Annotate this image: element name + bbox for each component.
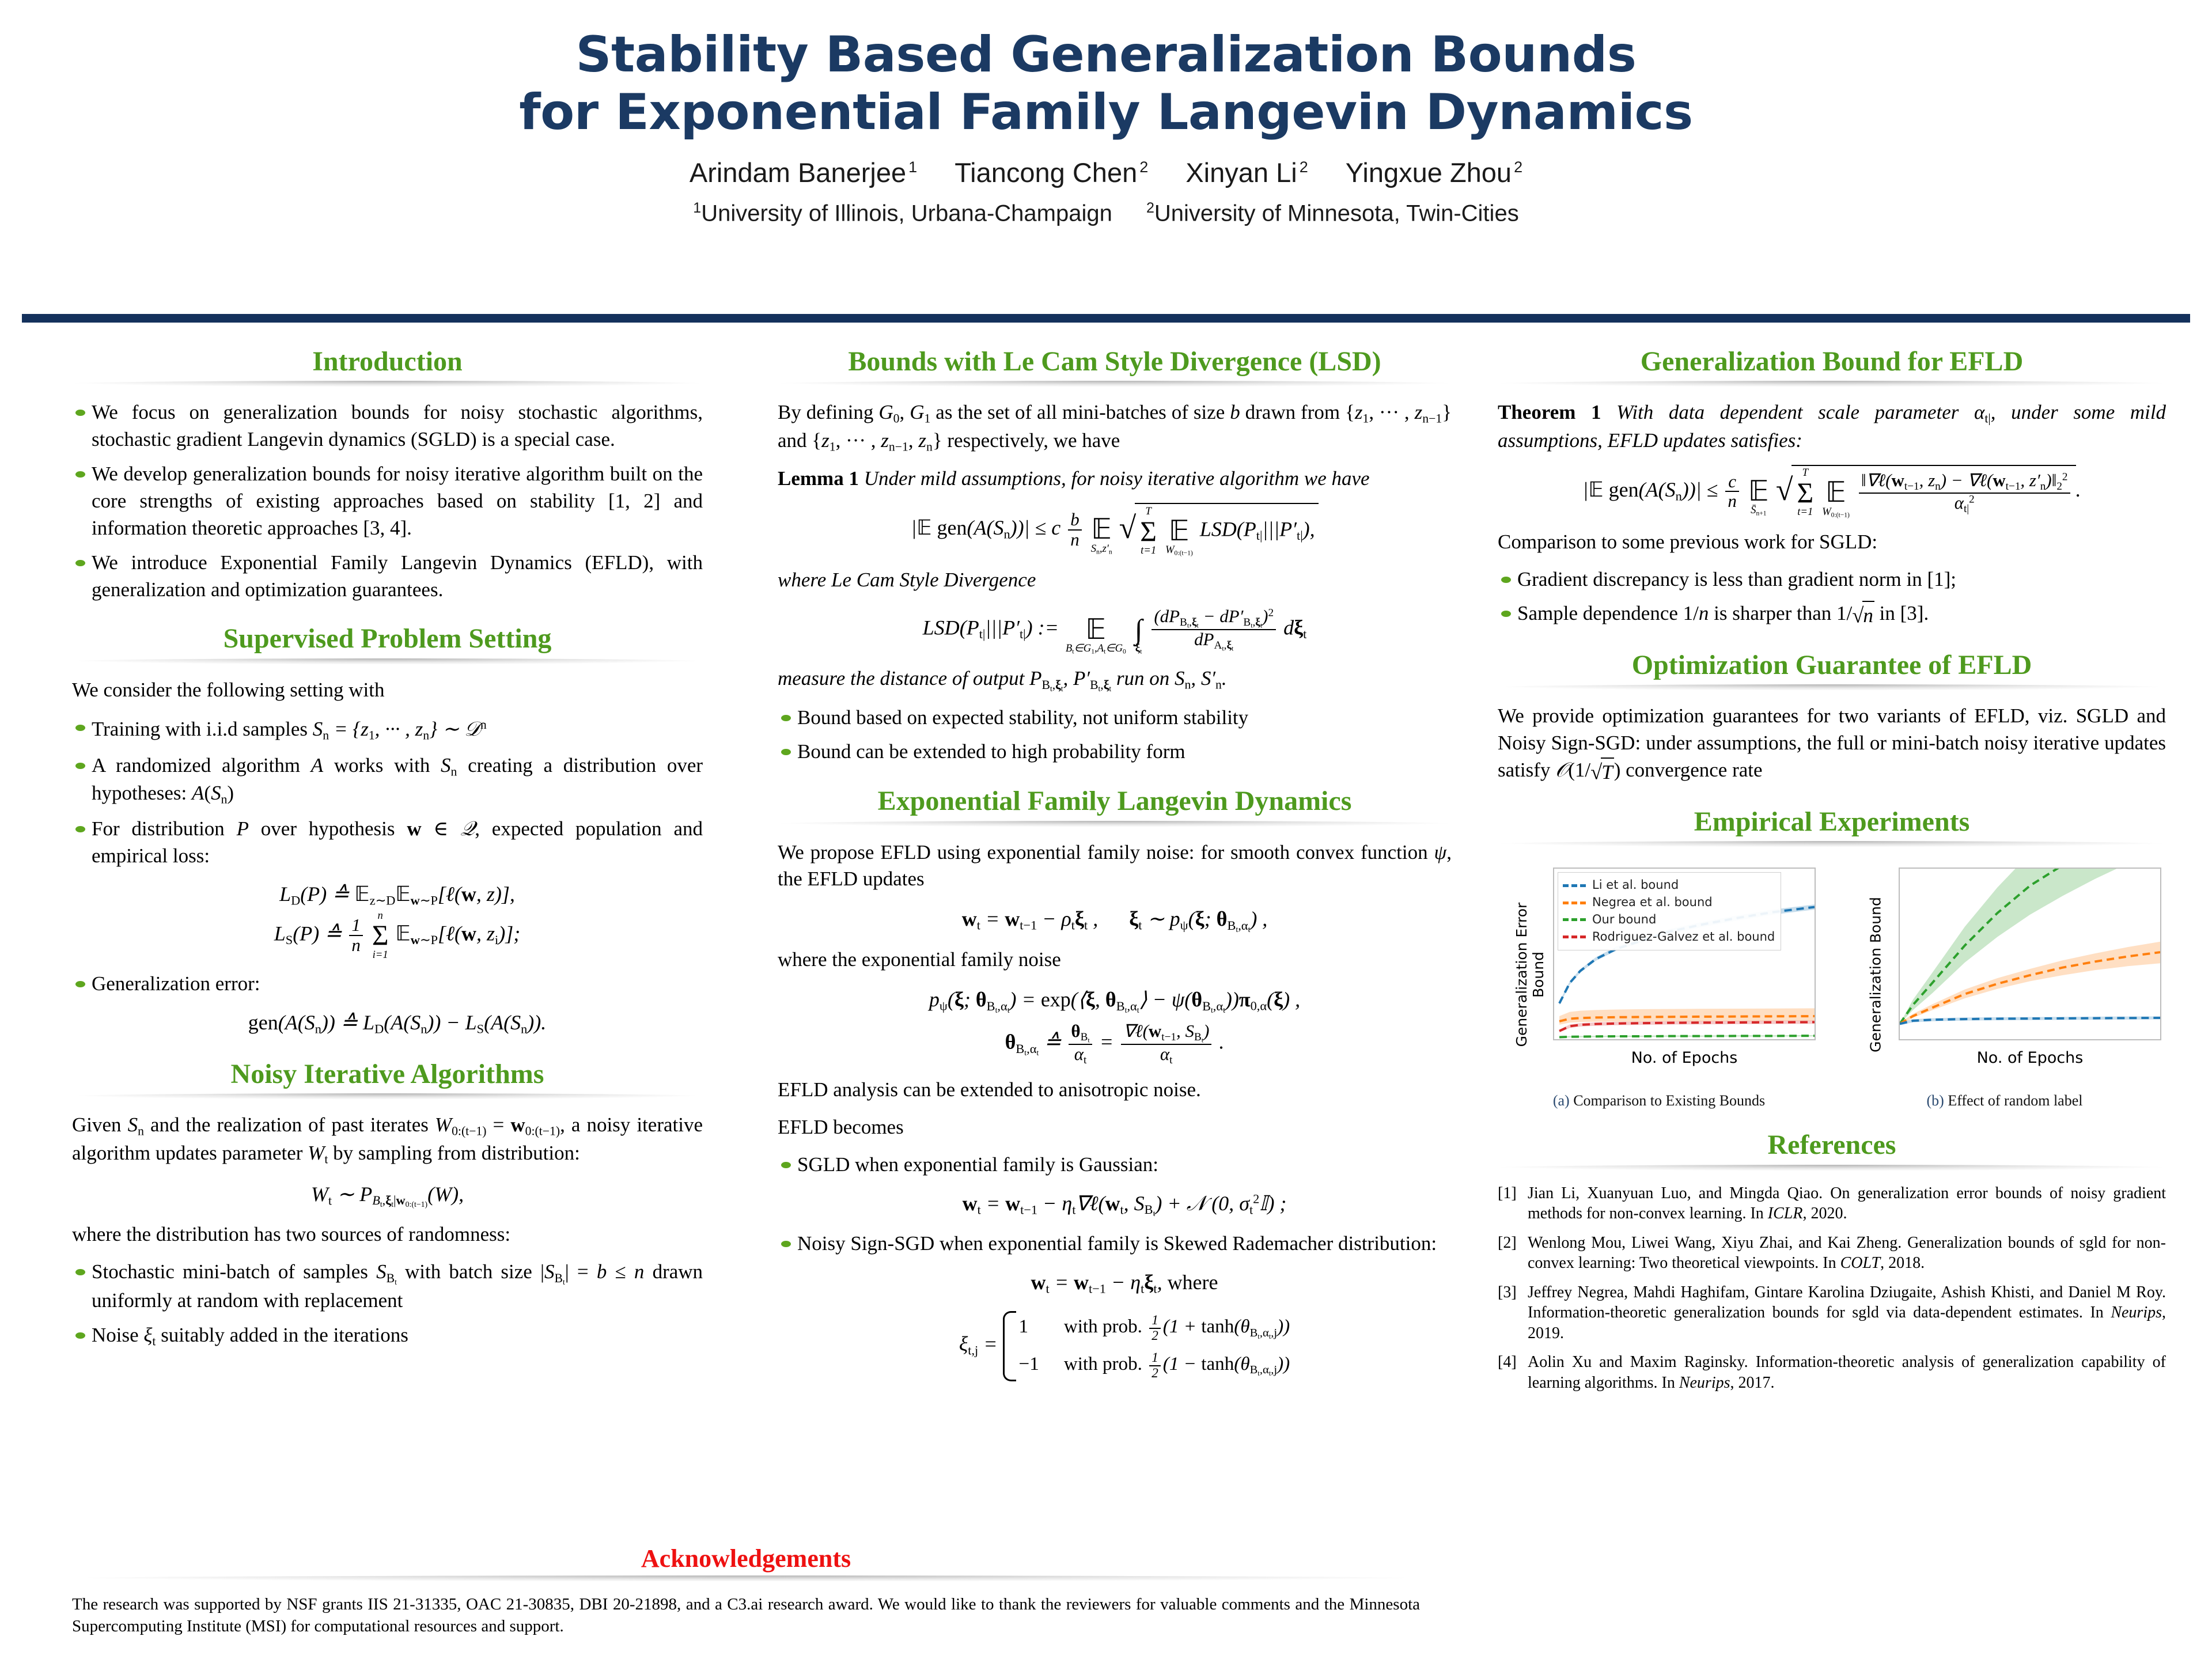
title-line-1: Stability Based Generalization Bounds	[0, 26, 2212, 84]
section-introduction: Introduction We focus on generalization …	[72, 346, 703, 603]
lsd-where: where Le Cam Style Divergence	[778, 567, 1452, 594]
supervised-intro: We consider the following setting with	[72, 677, 703, 704]
formula-theorem1-bound: |𝔼 gen(A(Sn))| ≤ cn 𝔼S̄n+1 √ TΣt=1 𝔼W0:(…	[1498, 465, 2166, 518]
page-title: Stability Based Generalization Bounds fo…	[0, 26, 2212, 142]
list-item: Training with i.i.d samples Sn = {z1, ··…	[72, 714, 703, 745]
author-4: Yingxue Zhou2	[1346, 157, 1522, 188]
section-noisy-iterative-algorithms: Noisy Iterative Algorithms Given Sn and …	[72, 1058, 703, 1350]
legend-label: Our bound	[1592, 911, 1656, 929]
section-divider	[1498, 1165, 2166, 1171]
reference-text: Jeffrey Negrea, Mahdi Haghifam, Gintare …	[1528, 1283, 2166, 1322]
section-title-lsd: Bounds with Le Cam Style Divergence (LSD…	[778, 346, 1452, 377]
section-title-efld: Exponential Family Langevin Dynamics	[778, 785, 1452, 817]
lemma-1: Lemma 1 Under mild assumptions, for nois…	[778, 465, 1452, 493]
legend-swatch	[1563, 884, 1586, 887]
supervised-bullets: Training with i.i.d samples Sn = {z1, ··…	[72, 714, 703, 1039]
section-title-genbound: Generalization Bound for EFLD	[1498, 346, 2166, 377]
reference-text: Aolin Xu and Maxim Raginsky. Information…	[1528, 1353, 2166, 1392]
genbound-comparison: Comparison to some previous work for SGL…	[1498, 529, 2166, 556]
theorem-1: Theorem 1 With data dependent scale para…	[1498, 399, 2166, 454]
chart-b-ylabel: Generalization Bound	[1868, 882, 1884, 1067]
figure-b: Generalization Bound 0.00.20.40.60.81.00…	[1843, 859, 2166, 1109]
list-item: Bound based on expected stability, not u…	[778, 704, 1452, 732]
formula-losses: LD(P) ≙ 𝔼z∼D𝔼w∼P[ℓ(w, z)], LS(P) ≙ 1n nΣ…	[92, 878, 703, 960]
reference-item: [3]Jeffrey Negrea, Mahdi Haghifam, Ginta…	[1498, 1282, 2166, 1344]
genbound-bullets: Gradient discrepancy is less than gradie…	[1498, 566, 2166, 630]
efld-paragraph-1: We propose EFLD using exponential family…	[778, 839, 1452, 893]
legend-swatch	[1563, 935, 1586, 938]
references-list: [1]Jian Li, Xuanyuan Luo, and Mingda Qia…	[1498, 1183, 2166, 1393]
section-title-references: References	[1498, 1129, 2166, 1161]
section-supervised-problem-setting: Supervised Problem Setting We consider t…	[72, 623, 703, 1039]
list-item: Sample dependence 1/n is sharper than 1/…	[1498, 600, 2166, 630]
list-item: Bound can be extended to high probabilit…	[778, 738, 1452, 766]
lemma-text: Under mild assumptions, for noisy iterat…	[864, 467, 1370, 490]
reference-venue: COLT	[1840, 1254, 1880, 1272]
reference-number: [2]	[1498, 1233, 1517, 1253]
section-divider	[72, 381, 703, 387]
chart-b-xlabel: No. of Epochs	[1899, 1049, 2161, 1067]
affiliation-list: 1University of Illinois, Urbana-Champaig…	[0, 200, 2212, 226]
section-generalization-bound: Generalization Bound for EFLD Theorem 1 …	[1498, 346, 2166, 630]
section-title-optimization: Optimization Guarantee of EFLD	[1498, 649, 2166, 681]
chart-band	[1900, 869, 2160, 1024]
list-item: For distribution P over hypothesis w ∈ 𝒬…	[72, 816, 703, 961]
list-item: Noise ξt suitably added in the iteration…	[72, 1322, 703, 1350]
poster-columns: Introduction We focus on generalization …	[0, 346, 2212, 1412]
author-2: Tiancong Chen2	[955, 157, 1148, 188]
list-item: We introduce Exponential Family Langevin…	[72, 550, 703, 604]
formula-signsgd-update: wt = wt−1 − ηtξt, where	[797, 1267, 1452, 1298]
legend-swatch	[1563, 902, 1586, 904]
section-title-experiments: Empirical Experiments	[1498, 806, 2166, 838]
author-3: Xinyan Li2	[1185, 157, 1308, 188]
section-acknowledgements: Acknowledgements The research was suppor…	[72, 1544, 1420, 1637]
chart-comparison-existing-bounds: Generalization Error Bound 0.00.20.40.60…	[1498, 859, 1820, 1090]
efld-paragraph-4: EFLD becomes	[778, 1114, 1452, 1141]
reference-number: [4]	[1498, 1352, 1517, 1373]
section-lsd: Bounds with Le Cam Style Divergence (LSD…	[778, 346, 1452, 766]
legend-item: Negrea et al. bound	[1563, 894, 1775, 911]
chart-a-plot-area: 0.00.20.40.60.81.002040Li et al. boundNe…	[1553, 868, 1816, 1040]
reference-item: [2]Wenlong Mou, Liwei Wang, Xiyu Zhai, a…	[1498, 1233, 2166, 1274]
formula-gen-error: gen(A(Sn)) ≙ LD(A(Sn)) − LS(A(Sn)).	[92, 1007, 703, 1039]
section-optimization-guarantee: Optimization Guarantee of EFLD We provid…	[1498, 649, 2166, 786]
reference-year: , 2020.	[1802, 1205, 1847, 1222]
lsd-bullets: Bound based on expected stability, not u…	[778, 704, 1452, 766]
formula-wt-sampling: Wt ∼ PBt,ξt|w0:(t−1)(W),	[72, 1179, 703, 1211]
legend-label: Rodriguez-Galvez et al. bound	[1592, 929, 1775, 946]
cases-block: 1 with prob. 12(1 + tanh(θBt,αt,j)) −1 w…	[1003, 1309, 1290, 1384]
chart-legend: Li et al. boundNegrea et al. boundOur bo…	[1558, 872, 1781, 950]
column-left: Introduction We focus on generalization …	[0, 346, 755, 1369]
reference-year: , 2017.	[1730, 1374, 1775, 1392]
figures-row: Generalization Error Bound 0.00.20.40.60…	[1498, 859, 2166, 1109]
affiliation-2: 2University of Minnesota, Twin-Cities	[1146, 200, 1519, 226]
section-divider	[1498, 841, 2166, 847]
section-title-supervised: Supervised Problem Setting	[72, 623, 703, 654]
noisy-bullets: Stochastic mini-batch of samples SBt wit…	[72, 1259, 703, 1350]
legend-item: Li et al. bound	[1563, 877, 1775, 894]
chart-b-plot-area: 0.00.20.40.60.81.002505007501000	[1899, 868, 2161, 1040]
legend-label: Negrea et al. bound	[1592, 894, 1713, 911]
figure-a: Generalization Error Bound 0.00.20.40.60…	[1498, 859, 1820, 1109]
author-1: Arindam Banerjee1	[690, 157, 917, 188]
reference-item: [4]Aolin Xu and Maxim Raginsky. Informat…	[1498, 1352, 2166, 1393]
legend-label: Li et al. bound	[1592, 877, 1679, 894]
reference-item: [1]Jian Li, Xuanyuan Luo, and Mingda Qia…	[1498, 1183, 2166, 1224]
reference-venue: Neurips	[2111, 1304, 2162, 1321]
chart-b-svg	[1900, 869, 2160, 1039]
list-item: Gradient discrepancy is less than gradie…	[1498, 566, 2166, 593]
section-title-introduction: Introduction	[72, 346, 703, 377]
noisy-paragraph-1: Given Sn and the realization of past ite…	[72, 1112, 703, 1168]
list-item: SGLD when exponential family is Gaussian…	[778, 1152, 1452, 1220]
efld-paragraph-3: EFLD analysis can be extended to anisotr…	[778, 1077, 1452, 1104]
lsd-paragraph-1: By defining G0, G1 as the set of all min…	[778, 399, 1452, 455]
legend-item: Our bound	[1563, 911, 1775, 929]
chart-a-ylabel: Generalization Error Bound	[1513, 882, 1547, 1067]
section-divider	[778, 381, 1452, 387]
list-item: Noisy Sign-SGD when exponential family i…	[778, 1230, 1452, 1384]
section-divider	[72, 1575, 1420, 1581]
formula-xi-cases: ξt,j = 1 with prob. 12(1 + tanh(θBt,αt,j…	[797, 1309, 1452, 1384]
poster-header: Stability Based Generalization Bounds fo…	[0, 0, 2212, 226]
figure-b-caption: (b) Effect of random label	[1843, 1092, 2166, 1109]
section-efld: Exponential Family Langevin Dynamics We …	[778, 785, 1452, 1384]
reference-year: , 2018.	[1880, 1254, 1925, 1272]
introduction-bullets: We focus on generalization bounds for no…	[72, 399, 703, 603]
formula-efld-noise: pψ(ξ; θBt,αt) = exp(⟨ξ, θBt,αt⟩ − ψ(θBt,…	[778, 984, 1452, 1066]
lemma-label: Lemma 1	[778, 467, 859, 490]
efld-bullets: SGLD when exponential family is Gaussian…	[778, 1152, 1452, 1384]
reference-venue: Neurips	[1679, 1374, 1730, 1392]
reference-number: [3]	[1498, 1282, 1517, 1303]
list-item: We develop generalization bounds for noi…	[72, 461, 703, 542]
section-title-noisy: Noisy Iterative Algorithms	[72, 1058, 703, 1090]
section-empirical-experiments: Empirical Experiments Generalization Err…	[1498, 806, 2166, 1109]
column-middle: Bounds with Le Cam Style Divergence (LSD…	[755, 346, 1475, 1403]
formula-sgld-update: wt = wt−1 − ηt∇ℓ(wt, SBt) + 𝒩 (0, σt2𝕀) …	[797, 1188, 1452, 1221]
reference-venue: ICLR	[1768, 1205, 1803, 1222]
section-references: References [1]Jian Li, Xuanyuan Luo, and…	[1498, 1129, 2166, 1393]
author-list: Arindam Banerjee1 Tiancong Chen2 Xinyan …	[0, 157, 2212, 188]
chart-a-xlabel: No. of Epochs	[1553, 1049, 1816, 1067]
header-divider	[22, 314, 2190, 323]
section-divider	[1498, 684, 2166, 690]
section-divider	[778, 821, 1452, 827]
formula-lsd-definition: LSD(Pt||||P′t|) := 𝔼Bt∈G1,At∈G0 ∫ξt (dPB…	[778, 604, 1452, 655]
formula-lemma1-bound: |𝔼 gen(A(Sn))| ≤ c bn 𝔼Sn,z′n √ TΣt=1 𝔼W…	[778, 503, 1452, 556]
list-item: Generalization error: gen(A(Sn)) ≙ LD(A(…	[72, 971, 703, 1039]
section-title-acknowledgements: Acknowledgements	[72, 1544, 1420, 1573]
noisy-paragraph-2: where the distribution has two sources o…	[72, 1221, 703, 1248]
section-divider	[1498, 381, 2166, 387]
efld-paragraph-2: where the exponential family noise	[778, 946, 1452, 974]
lsd-measure: measure the distance of output PBt,ξt, P…	[778, 665, 1452, 694]
section-divider	[72, 658, 703, 664]
legend-item: Rodriguez-Galvez et al. bound	[1563, 929, 1775, 946]
acknowledgements-text: The research was supported by NSF grants…	[72, 1594, 1420, 1637]
column-right: Generalization Bound for EFLD Theorem 1 …	[1475, 346, 2212, 1412]
list-item: We focus on generalization bounds for no…	[72, 399, 703, 453]
formula-sn: Sn = {z1, ··· , zn} ∼ 𝒟n	[313, 718, 487, 740]
list-item: A randomized algorithm A works with Sn c…	[72, 752, 703, 808]
formula-efld-update: wt = wt−1 − ρtξt , ξt ∼ pψ(ξ; θBt,αt) ,	[778, 903, 1452, 936]
theorem-label: Theorem 1	[1498, 401, 1601, 423]
optimization-paragraph: We provide optimization guarantees for t…	[1498, 703, 2166, 786]
section-divider	[72, 1093, 703, 1099]
reference-number: [1]	[1498, 1183, 1517, 1204]
title-line-2: for Exponential Family Langevin Dynamics	[0, 84, 2212, 142]
list-item: Stochastic mini-batch of samples SBt wit…	[72, 1259, 703, 1314]
chart-effect-random-label: Generalization Bound 0.00.20.40.60.81.00…	[1843, 859, 2166, 1090]
affiliation-1: 1University of Illinois, Urbana-Champaig…	[693, 200, 1112, 226]
figure-a-caption: (a) Comparison to Existing Bounds	[1498, 1092, 1820, 1109]
legend-swatch	[1563, 918, 1586, 921]
